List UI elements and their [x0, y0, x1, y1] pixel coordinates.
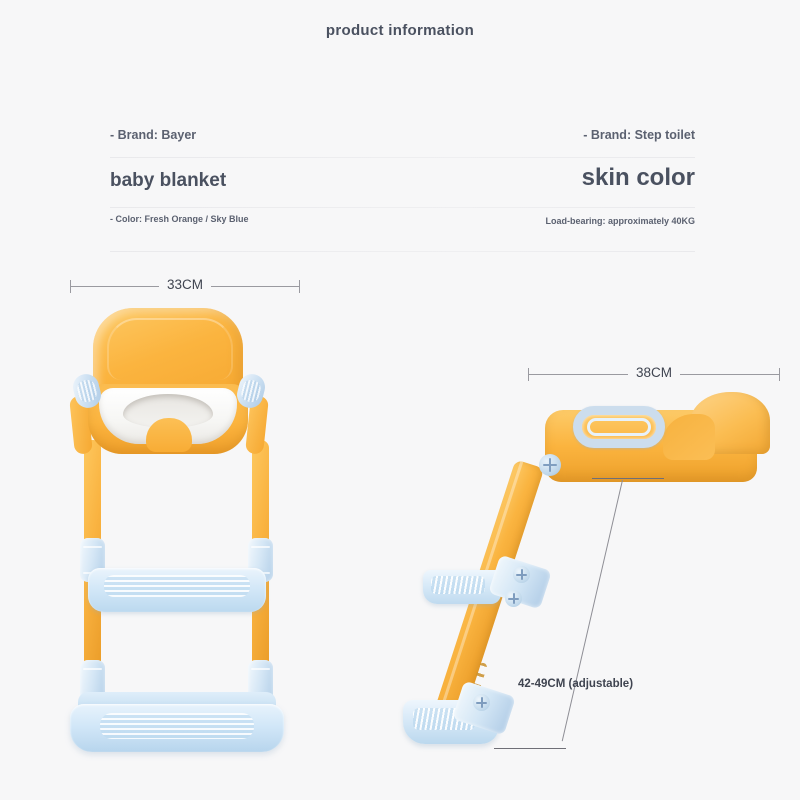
- spec-product-left: baby blanket: [110, 170, 226, 192]
- spec-brand-left: - Brand: Bayer: [110, 128, 196, 142]
- step-platform: [88, 568, 266, 612]
- dimension-cap-left: [528, 368, 529, 381]
- dimension-tick-bottom: [494, 748, 566, 749]
- dimension-cap-right: [779, 368, 780, 381]
- dimension-slant-line: [562, 480, 623, 741]
- dimension-tick-top: [592, 478, 664, 479]
- spec-divider: [110, 251, 695, 252]
- spec-product-right: skin color: [582, 164, 695, 192]
- dimension-label-33cm: 33CM: [159, 277, 211, 292]
- dimension-side-width: 38CM: [528, 368, 780, 382]
- spec-row: - Brand: Bayer - Brand: Step toilet: [110, 118, 695, 158]
- base-platform: [70, 704, 284, 752]
- dimension-label-38cm: 38CM: [628, 365, 680, 380]
- spec-loadbearing-right: Load-bearing: approximately 40KG: [545, 216, 695, 228]
- spec-brand-right: - Brand: Step toilet: [583, 128, 695, 142]
- spec-block: - Brand: Bayer - Brand: Step toilet baby…: [110, 118, 695, 252]
- page-title: product information: [0, 22, 800, 39]
- step-toilet-front-view: [60, 300, 320, 770]
- seat-splash-guard: [146, 418, 192, 452]
- dimension-cap-left: [70, 280, 71, 293]
- lower-screw-icon: [473, 694, 490, 711]
- dimension-adjustable-height: 42-49CM (adjustable): [500, 470, 630, 770]
- spec-color-left: - Color: Fresh Orange / Sky Blue: [110, 214, 249, 225]
- dimension-front-width: 33CM: [70, 280, 300, 294]
- dimension-label-height: 42-49CM (adjustable): [518, 678, 633, 690]
- spec-row: baby blanket skin color: [110, 158, 695, 208]
- dimension-cap-right: [299, 280, 300, 293]
- handle-loop-inner: [587, 418, 651, 436]
- spec-row: - Color: Fresh Orange / Sky Blue Load-be…: [110, 208, 695, 252]
- product-information-page: product information - Brand: Bayer - Bra…: [0, 0, 800, 800]
